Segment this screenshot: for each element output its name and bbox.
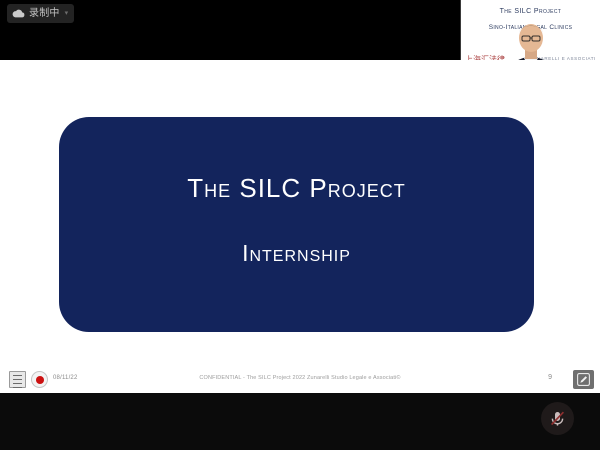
chevron-down-icon[interactable]: ▾ (65, 10, 69, 17)
slide-title-card: The SILC Project Internship (59, 117, 534, 332)
microphone-muted-button[interactable] (541, 402, 574, 435)
shared-slide: The SILC Project Internship 08/11/22 CON… (0, 60, 600, 393)
slide-subtitle: Internship (59, 240, 534, 267)
tile-slide-title: The SILC Project (461, 8, 600, 15)
slide-footer: 08/11/22 CONFIDENTIAL - The SILC Project… (0, 367, 600, 393)
cloud-icon (12, 9, 25, 18)
recording-label: 录制中 (29, 9, 60, 19)
meeting-screen-share-window: 录制中 ▾ The SILC Project Sino-Italian Lega… (0, 0, 600, 450)
recording-status-badge[interactable]: 录制中 ▾ (7, 4, 74, 23)
page-number: 9 (548, 374, 552, 381)
confidential-notice: CONFIDENTIAL - The SILC Project 2022 Zun… (0, 375, 600, 381)
slide-title: The SILC Project (59, 173, 534, 204)
meeting-toolbar (0, 393, 600, 450)
pen-annotate-icon[interactable] (573, 370, 594, 389)
